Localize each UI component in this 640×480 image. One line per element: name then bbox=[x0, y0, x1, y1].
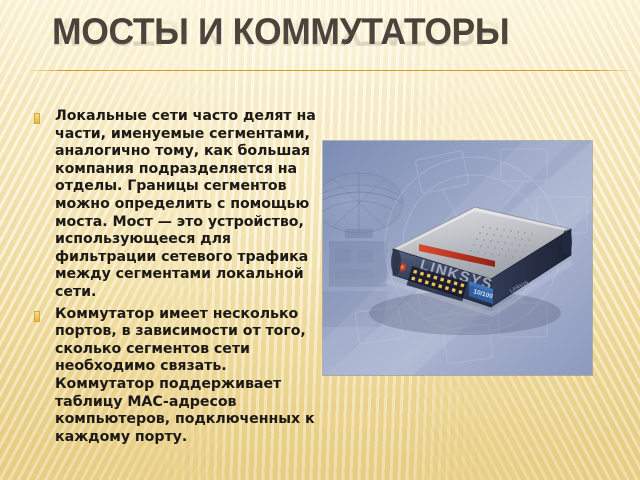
title-divider-rule bbox=[30, 70, 630, 71]
slide-title: МОСТЫ И КОММУТАТОРЫ bbox=[52, 10, 509, 54]
bullet-paragraph-text: Коммутатор имеет несколько портов, в зав… bbox=[55, 306, 326, 447]
slide-canvas: МОСТЫ И КОММУТАТОРЫ МОСТЫ И КОММУТАТОРЫ … bbox=[0, 0, 640, 480]
bullet-paragraph-text: Локальные сети часто делят на части, име… bbox=[55, 108, 326, 302]
network-switch-illustration: LINKSYS bbox=[323, 141, 592, 375]
network-switch-photo: LINKSYS bbox=[323, 141, 592, 375]
box-bullet-icon bbox=[34, 113, 40, 124]
box-bullet-icon bbox=[34, 311, 40, 322]
body-text-column: Локальные сети часто делят на части, име… bbox=[34, 108, 326, 450]
slide-title-zone: МОСТЫ И КОММУТАТОРЫ МОСТЫ И КОММУТАТОРЫ bbox=[0, 8, 640, 70]
bullet-list-item: Локальные сети часто делят на части, име… bbox=[34, 108, 326, 302]
bullet-list-item: Коммутатор имеет несколько портов, в зав… bbox=[34, 306, 326, 447]
